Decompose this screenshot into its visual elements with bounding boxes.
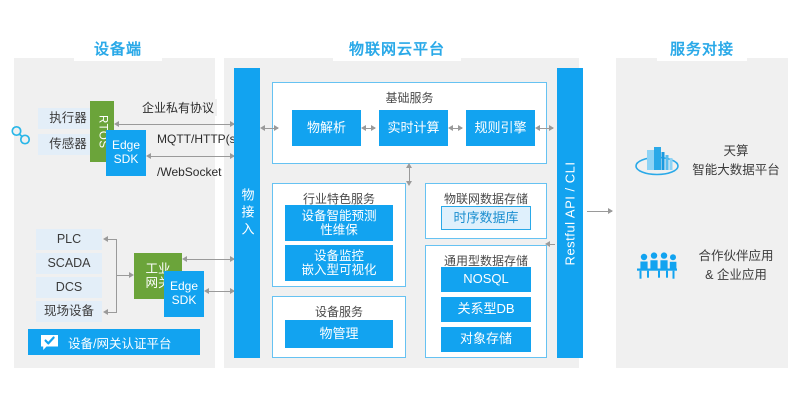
basic-service-connector-1-arrow-left xyxy=(361,125,366,131)
device-service-item-thing-management[interactable]: 物管理 xyxy=(285,320,393,348)
connector-private-protocol-arrow-left xyxy=(114,121,119,127)
service-row-partners-line2: & 企业应用 xyxy=(682,266,790,285)
connector-mqtt-arrow-left xyxy=(146,153,151,159)
panel-title-iot-platform-text: 物联网云平台 xyxy=(349,38,445,59)
industrial-source-scada-label: SCADA xyxy=(47,256,90,270)
industry-service-item-monitoring-visualization-line2: 嵌入型可视化 xyxy=(301,263,376,277)
general-data-storage-item-relational-db-label: 关系型DB xyxy=(457,302,514,317)
edge-sdk-device-box[interactable]: Edge SDK xyxy=(106,130,146,176)
iot-data-storage-group-title: 物联网数据存储 xyxy=(426,190,546,207)
connector-private-protocol-line xyxy=(118,124,234,125)
connector-mqtt-label: MQTT/HTTP(s) xyxy=(155,132,242,146)
industrial-source-scada[interactable]: SCADA xyxy=(36,253,102,274)
industry-service-item-predictive-maintenance-line2: 性维保 xyxy=(320,223,358,237)
connector-websocket-label: /WebSocket xyxy=(155,165,223,179)
panel-title-iot-platform: 物联网云平台 xyxy=(333,35,461,61)
industry-service-item-monitoring-visualization[interactable]: 设备监控 嵌入型可视化 xyxy=(285,245,393,281)
basic-service-item-rule-engine-label: 规则引擎 xyxy=(474,121,526,136)
service-row-partners-text: 合作伙伴应用 & 企业应用 xyxy=(682,247,790,285)
connector-gateway-upper-arrow-left xyxy=(182,256,187,262)
connector-basic-to-restful-arrow-left xyxy=(535,125,540,131)
basic-service-connector-1-arrow-right xyxy=(371,125,376,131)
panel-service-docking xyxy=(616,58,788,368)
connector-mqtt-line xyxy=(150,156,234,157)
connector-mqtt-text: MQTT/HTTP(s) xyxy=(157,132,240,146)
general-data-storage-item-object-storage[interactable]: 对象存储 xyxy=(441,327,531,352)
plug-sensor-icon xyxy=(8,122,34,148)
edge-sdk-gateway-label-line1: Edge xyxy=(170,280,198,294)
gateway-bracket-top-arrow xyxy=(103,236,108,242)
panel-title-device-side: 设备端 xyxy=(74,35,162,61)
restful-api-cli-bar[interactable]: Restful API / CLI xyxy=(557,68,583,358)
connector-ingress-to-basic-arrow-right xyxy=(274,125,279,131)
service-row-bigdata-text: 天算 智能大数据平台 xyxy=(682,142,790,180)
connector-private-protocol-label: 企业私有协议 xyxy=(139,99,217,116)
panel-title-service-docking-text: 服务对接 xyxy=(670,38,734,59)
edge-sdk-gateway-box[interactable]: Edge SDK xyxy=(164,271,204,317)
industry-service-item-predictive-maintenance[interactable]: 设备智能预测 性维保 xyxy=(285,205,393,241)
restful-api-cli-bar-label: Restful API / CLI xyxy=(563,161,578,265)
device-gateway-auth-platform-label: 设备/网关认证平台 xyxy=(68,333,171,352)
industrial-source-dcs[interactable]: DCS xyxy=(36,277,102,298)
general-data-storage-item-object-storage-label: 对象存储 xyxy=(460,332,512,347)
partners-people-icon xyxy=(632,251,682,281)
industrial-source-field-device[interactable]: 现场设备 xyxy=(36,301,102,322)
service-row-partners[interactable]: 合作伙伴应用 & 企业应用 xyxy=(632,245,790,287)
device-gateway-auth-platform-bar[interactable]: 设备/网关认证平台 xyxy=(28,329,200,355)
gateway-bracket-bottom xyxy=(107,312,117,313)
panel-title-device-side-text: 设备端 xyxy=(94,38,142,59)
connector-ingress-to-basic-arrow-left xyxy=(260,125,265,131)
industry-service-item-predictive-maintenance-line1: 设备智能预测 xyxy=(301,209,376,223)
connector-basic-to-restful-arrow-right xyxy=(549,125,554,131)
gateway-bracket-bottom-arrow xyxy=(103,309,108,315)
device-endpoint-actuator[interactable]: 执行器 xyxy=(38,108,98,129)
device-endpoint-sensor-label: 传感器 xyxy=(49,137,87,151)
connector-websocket-text: /WebSocket xyxy=(157,165,221,179)
basic-service-group-title: 基础服务 xyxy=(273,89,546,106)
general-data-storage-item-nosql[interactable]: NOSQL xyxy=(441,267,531,292)
gateway-bracket-top xyxy=(107,239,117,240)
basic-service-item-realtime-compute-label: 实时计算 xyxy=(387,121,439,136)
panel-title-service-docking: 服务对接 xyxy=(657,35,747,61)
industrial-source-plc-label: PLC xyxy=(57,232,81,246)
connector-gateway-lower-arrow-left xyxy=(204,288,209,294)
general-data-storage-item-nosql-label: NOSQL xyxy=(463,272,509,287)
connector-basic-to-lower-arrow-up xyxy=(406,163,412,168)
basic-service-item-realtime-compute[interactable]: 实时计算 xyxy=(379,110,448,146)
basic-service-item-parse-label: 物解析 xyxy=(307,121,346,136)
service-row-bigdata-line2: 智能大数据平台 xyxy=(682,161,790,180)
edge-sdk-gateway-label-line2: SDK xyxy=(172,294,197,308)
service-row-bigdata[interactable]: 天算 智能大数据平台 xyxy=(632,140,790,182)
iot-data-storage-group-title-text: 物联网数据存储 xyxy=(444,192,528,206)
connector-basic-to-lower xyxy=(409,166,410,182)
iot-data-storage-item-tsdb-label: 时序数据库 xyxy=(453,211,518,226)
industrial-source-field-device-label: 现场设备 xyxy=(44,304,94,318)
basic-service-item-parse[interactable]: 物解析 xyxy=(292,110,361,146)
edge-sdk-device-label-line2: SDK xyxy=(114,153,139,167)
service-row-partners-line1: 合作伙伴应用 xyxy=(682,247,790,266)
iot-ingress-bar-label: 物接入 xyxy=(238,188,257,239)
device-endpoint-sensor[interactable]: 传感器 xyxy=(38,134,98,155)
bigdata-cylinder-icon xyxy=(632,144,682,178)
connector-private-protocol-text: 企业私有协议 xyxy=(142,101,214,115)
general-data-storage-item-relational-db[interactable]: 关系型DB xyxy=(441,297,531,322)
device-endpoint-actuator-label: 执行器 xyxy=(49,111,87,125)
device-service-item-thing-management-label: 物管理 xyxy=(319,327,358,342)
service-row-bigdata-line1: 天算 xyxy=(682,142,790,161)
edge-sdk-device-label-line1: Edge xyxy=(112,139,140,153)
device-service-group-title: 设备服务 xyxy=(273,303,405,320)
general-data-storage-group-title-text: 通用型数据存储 xyxy=(444,254,528,268)
industrial-source-plc[interactable]: PLC xyxy=(36,229,102,250)
device-service-group-title-text: 设备服务 xyxy=(315,305,363,319)
connector-restful-to-service-arrow xyxy=(608,208,613,214)
connector-storage-to-restful-arrow xyxy=(545,241,550,247)
architecture-diagram: 设备端 物联网云平台 服务对接 执行器 传感器 RTOS Edge SDK 企业 xyxy=(0,0,802,411)
industry-service-item-monitoring-visualization-line1: 设备监控 xyxy=(314,249,364,263)
industry-service-group-title-text: 行业特色服务 xyxy=(303,192,375,206)
basic-service-connector-2-arrow-left xyxy=(448,125,453,131)
connector-basic-to-lower-arrow-down xyxy=(406,181,412,186)
connector-gateway-upper-line xyxy=(186,259,234,260)
basic-service-item-rule-engine[interactable]: 规则引擎 xyxy=(466,110,535,146)
basic-service-connector-2-arrow-right xyxy=(458,125,463,131)
iot-data-storage-item-tsdb[interactable]: 时序数据库 xyxy=(441,206,531,230)
basic-service-group-title-text: 基础服务 xyxy=(385,91,433,105)
industrial-source-dcs-label: DCS xyxy=(56,280,82,294)
check-bubble-icon xyxy=(40,334,59,351)
iot-ingress-bar[interactable]: 物接入 xyxy=(234,68,260,358)
